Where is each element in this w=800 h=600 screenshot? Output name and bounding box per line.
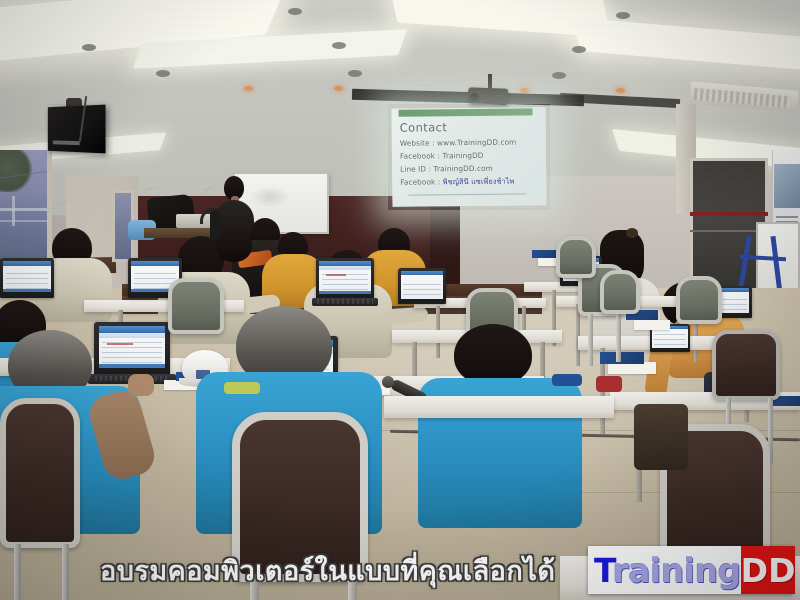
laptop-lid <box>0 258 54 298</box>
window-toolbar <box>99 333 166 338</box>
desk-foreground <box>384 396 614 418</box>
slide-facebook-thai-name: พิชญ์สินี แซเพี่ยงช้าไพ <box>443 177 515 187</box>
chair[interactable] <box>556 236 596 278</box>
paper-sheet <box>634 320 670 330</box>
chair-back <box>168 278 224 334</box>
chair[interactable] <box>712 330 780 400</box>
laptop-screen <box>401 271 443 299</box>
chair[interactable] <box>168 278 224 334</box>
ceiling-spotlight <box>520 88 529 93</box>
laptop[interactable] <box>0 258 54 298</box>
chair-leg <box>14 544 21 600</box>
projector-lens <box>470 93 479 102</box>
speaker-label <box>53 140 80 145</box>
chair-back <box>600 270 640 314</box>
window-titlebar <box>401 271 443 275</box>
window-titlebar <box>99 326 166 333</box>
window-fence-post <box>12 196 15 226</box>
logo-letter-t: T <box>594 551 612 590</box>
banner-tagline: อบรมคอมพิวเตอร์ในแบบที่คุณเลือกได้ <box>100 549 555 592</box>
slide-line-facebook: Facebook : TrainingDD <box>400 151 484 161</box>
window-toolbar <box>319 266 370 270</box>
student-hand <box>128 374 154 396</box>
ceiling-downlight <box>616 12 630 19</box>
ceiling-spotlight <box>616 88 625 93</box>
student-head <box>454 324 532 386</box>
screen-rows <box>654 333 686 345</box>
chair-leg <box>616 314 621 362</box>
laptop-base <box>312 298 378 306</box>
chair-back <box>676 276 722 324</box>
screen-rows <box>403 280 441 295</box>
bag <box>634 404 688 470</box>
chair-back <box>556 236 596 278</box>
door-red-trim <box>690 212 768 216</box>
laptop[interactable] <box>316 258 374 300</box>
window-statusbar <box>99 364 166 368</box>
window <box>0 150 52 262</box>
logo-wordmark: Training <box>594 554 741 587</box>
ceiling-spotlight <box>334 86 343 91</box>
ceiling-downlight <box>288 8 302 15</box>
whiteboard-smudge <box>250 186 290 208</box>
chair[interactable] <box>600 270 640 314</box>
wall-speaker <box>48 105 106 154</box>
chair-foreground[interactable] <box>0 398 80 548</box>
chair-leg <box>588 314 593 366</box>
logo-left-panel: Training <box>588 546 741 594</box>
lanyard-badge <box>224 382 260 394</box>
projection-screen: Contact Website : www.TrainingDD.com Fac… <box>391 107 546 207</box>
logo-right-panel: DD <box>741 546 796 594</box>
laptop-lid <box>316 258 374 300</box>
screen-rows <box>322 272 368 290</box>
chair-back <box>712 330 780 400</box>
flipchart-leg <box>770 236 782 294</box>
window-statusbar <box>3 289 51 292</box>
chair-leg <box>62 544 69 600</box>
classroom-photo: Contact Website : www.TrainingDD.com Fac… <box>0 0 800 600</box>
window-titlebar <box>3 261 51 266</box>
ceiling-downlight <box>348 70 362 77</box>
laptop-screen <box>99 326 166 368</box>
ceiling-spotlight <box>244 86 253 91</box>
microphone-head <box>382 376 394 388</box>
slide-line-lineid: Line ID : TrainingDD.com <box>400 164 493 174</box>
laptop-screen <box>319 261 370 294</box>
student-head <box>216 228 252 262</box>
slide-divider-rule <box>408 193 526 195</box>
chair[interactable] <box>676 276 722 324</box>
ceiling-downlight <box>82 44 96 51</box>
window-foliage <box>0 150 34 192</box>
screen-rows <box>102 340 162 363</box>
slide-facebook-label: Facebook : <box>400 177 443 186</box>
logo-word-raining: raining <box>612 551 740 590</box>
slide-line-facebook-thai: Facebook : พิชญ์สินี แซเพี่ยงช้าไพ <box>400 177 514 189</box>
laptop[interactable] <box>398 268 446 304</box>
slide-line-website: Website : www.TrainingDD.com <box>400 138 517 148</box>
poster-image <box>774 164 800 208</box>
ceiling-downlight <box>156 70 170 77</box>
laptop-lid <box>94 322 170 376</box>
laptop-screen <box>3 261 51 292</box>
ceiling-downlight <box>552 72 566 79</box>
window-fence <box>0 208 52 211</box>
laptop[interactable] <box>94 322 170 376</box>
window-titlebar <box>131 261 179 266</box>
presentation-slide: Contact Website : www.TrainingDD.com Fac… <box>391 107 546 207</box>
ceiling-downlight <box>572 46 586 53</box>
window-fence <box>0 220 52 222</box>
student-arm <box>384 306 429 324</box>
trainingdd-logo: Training DD <box>588 546 793 594</box>
laptop-lid <box>398 268 446 304</box>
ceiling-downlight <box>332 42 346 49</box>
screen-rows <box>6 271 49 288</box>
blue-shoe <box>552 374 582 386</box>
window-statusbar <box>319 291 370 294</box>
hair-tie <box>626 228 638 238</box>
chair-back <box>0 398 80 548</box>
slide-header-band <box>399 108 533 116</box>
red-object <box>596 376 622 392</box>
logo-suffix-dd: DD <box>741 554 796 587</box>
slide-heading: Contact <box>400 120 448 134</box>
laptop-keyboard <box>317 299 372 303</box>
blue-folder <box>600 352 644 364</box>
